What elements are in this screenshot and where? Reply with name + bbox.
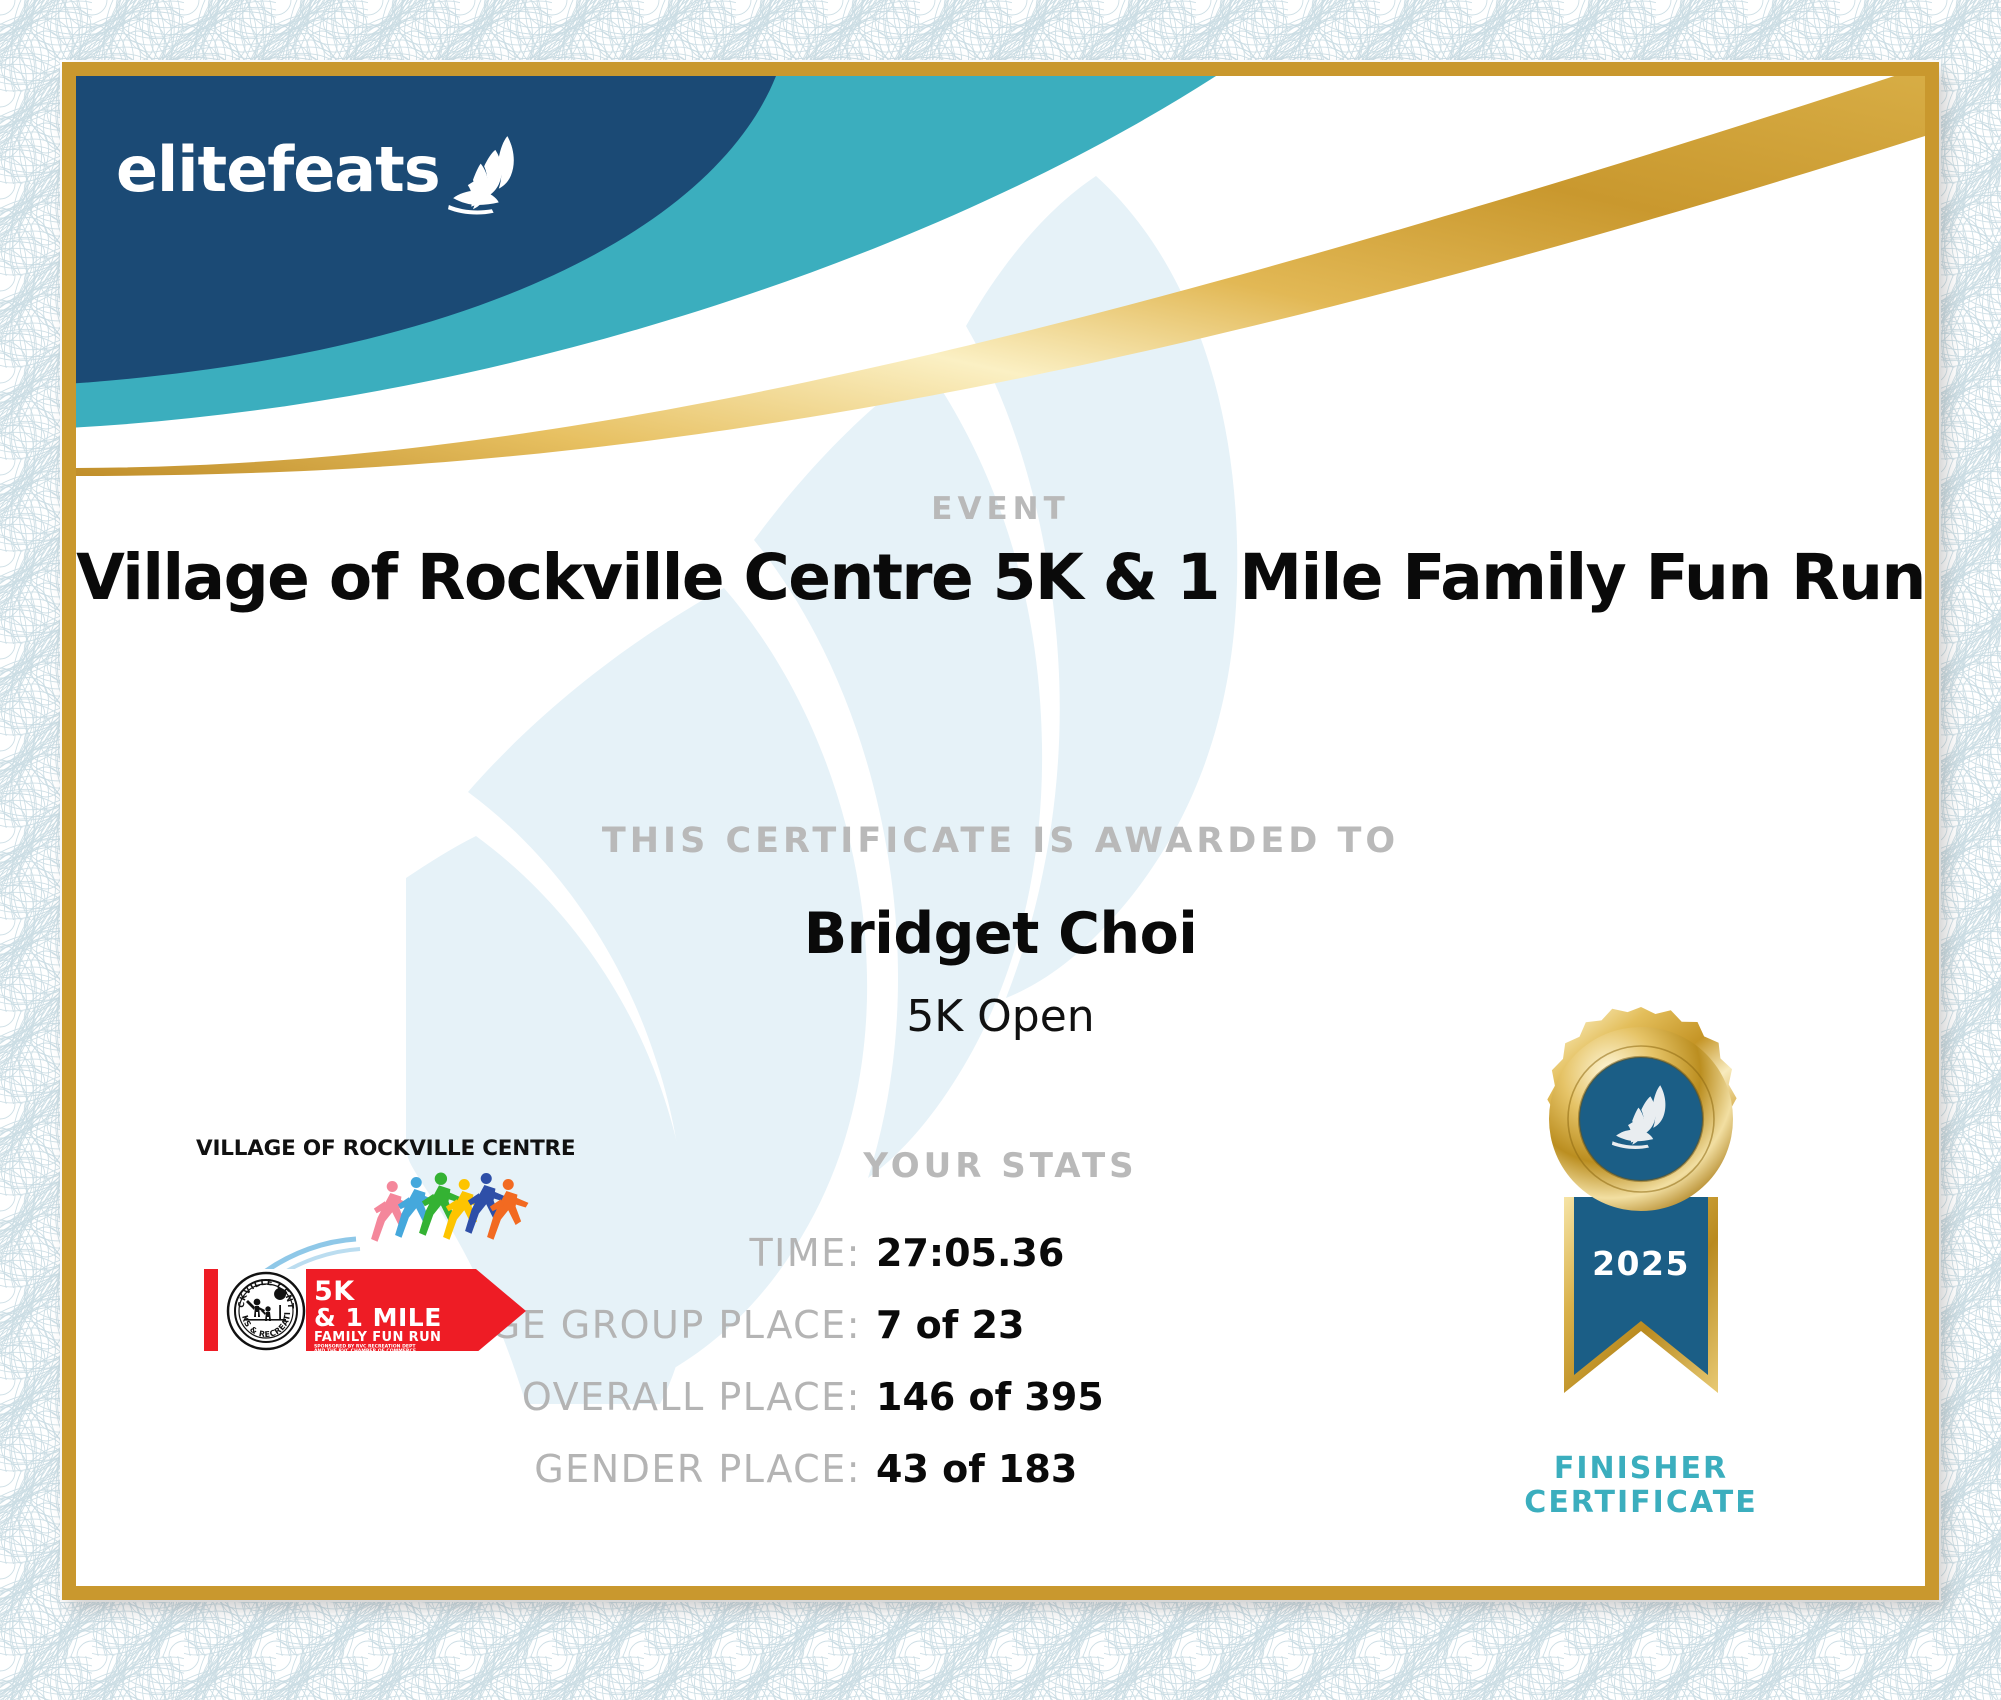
stat-label: OVERALL PLACE: bbox=[522, 1375, 861, 1419]
stat-value: 7 of 23 bbox=[876, 1303, 1024, 1347]
badge-caption-line2: CERTIFICATE bbox=[1491, 1486, 1791, 1520]
stat-label: TIME: bbox=[749, 1231, 861, 1275]
finisher-medal-icon: 2025 bbox=[1516, 1001, 1766, 1441]
event-logo-title: VILLAGE OF ROCKVILLE CENTRE bbox=[196, 1136, 536, 1161]
recipient-name: Bridget Choi bbox=[76, 901, 1925, 967]
finisher-badge: 2025 FINISHER CERTIFICATE bbox=[1491, 1001, 1791, 1519]
event-logo: VILLAGE OF ROCKVILLE CENTRE bbox=[196, 1136, 536, 1356]
event-logo-graphic: ROCKVILLE CENTRE PARKS & RECREATION bbox=[196, 1161, 536, 1351]
svg-text:AND THE RVC CHAMBER OF COMMERC: AND THE RVC CHAMBER OF COMMERCE bbox=[314, 1348, 416, 1351]
svg-text:FAMILY FUN RUN: FAMILY FUN RUN bbox=[314, 1330, 441, 1345]
certificate-card: elitefeats EVENT Village of Rockville Ce… bbox=[62, 62, 1939, 1600]
stat-value: 27:05.36 bbox=[876, 1231, 1064, 1275]
badge-year-text: 2025 bbox=[1592, 1244, 1690, 1283]
winged-foot-icon bbox=[442, 131, 528, 217]
awarded-to-caption: THIS CERTIFICATE IS AWARDED TO bbox=[76, 821, 1925, 861]
badge-caption: FINISHER CERTIFICATE bbox=[1491, 1452, 1791, 1519]
svg-text:& 1 MILE: & 1 MILE bbox=[314, 1303, 442, 1332]
stat-label: GENDER PLACE: bbox=[534, 1447, 861, 1491]
event-caption: EVENT bbox=[76, 491, 1925, 527]
elitefeats-wordmark: elitefeats bbox=[116, 139, 440, 201]
badge-caption-line1: FINISHER bbox=[1491, 1452, 1791, 1486]
elitefeats-logo: elitefeats bbox=[116, 131, 528, 201]
stat-value: 43 of 183 bbox=[876, 1447, 1077, 1491]
event-title: Village of Rockville Centre 5K & 1 Mile … bbox=[76, 541, 1925, 614]
stat-value: 146 of 395 bbox=[876, 1375, 1104, 1419]
